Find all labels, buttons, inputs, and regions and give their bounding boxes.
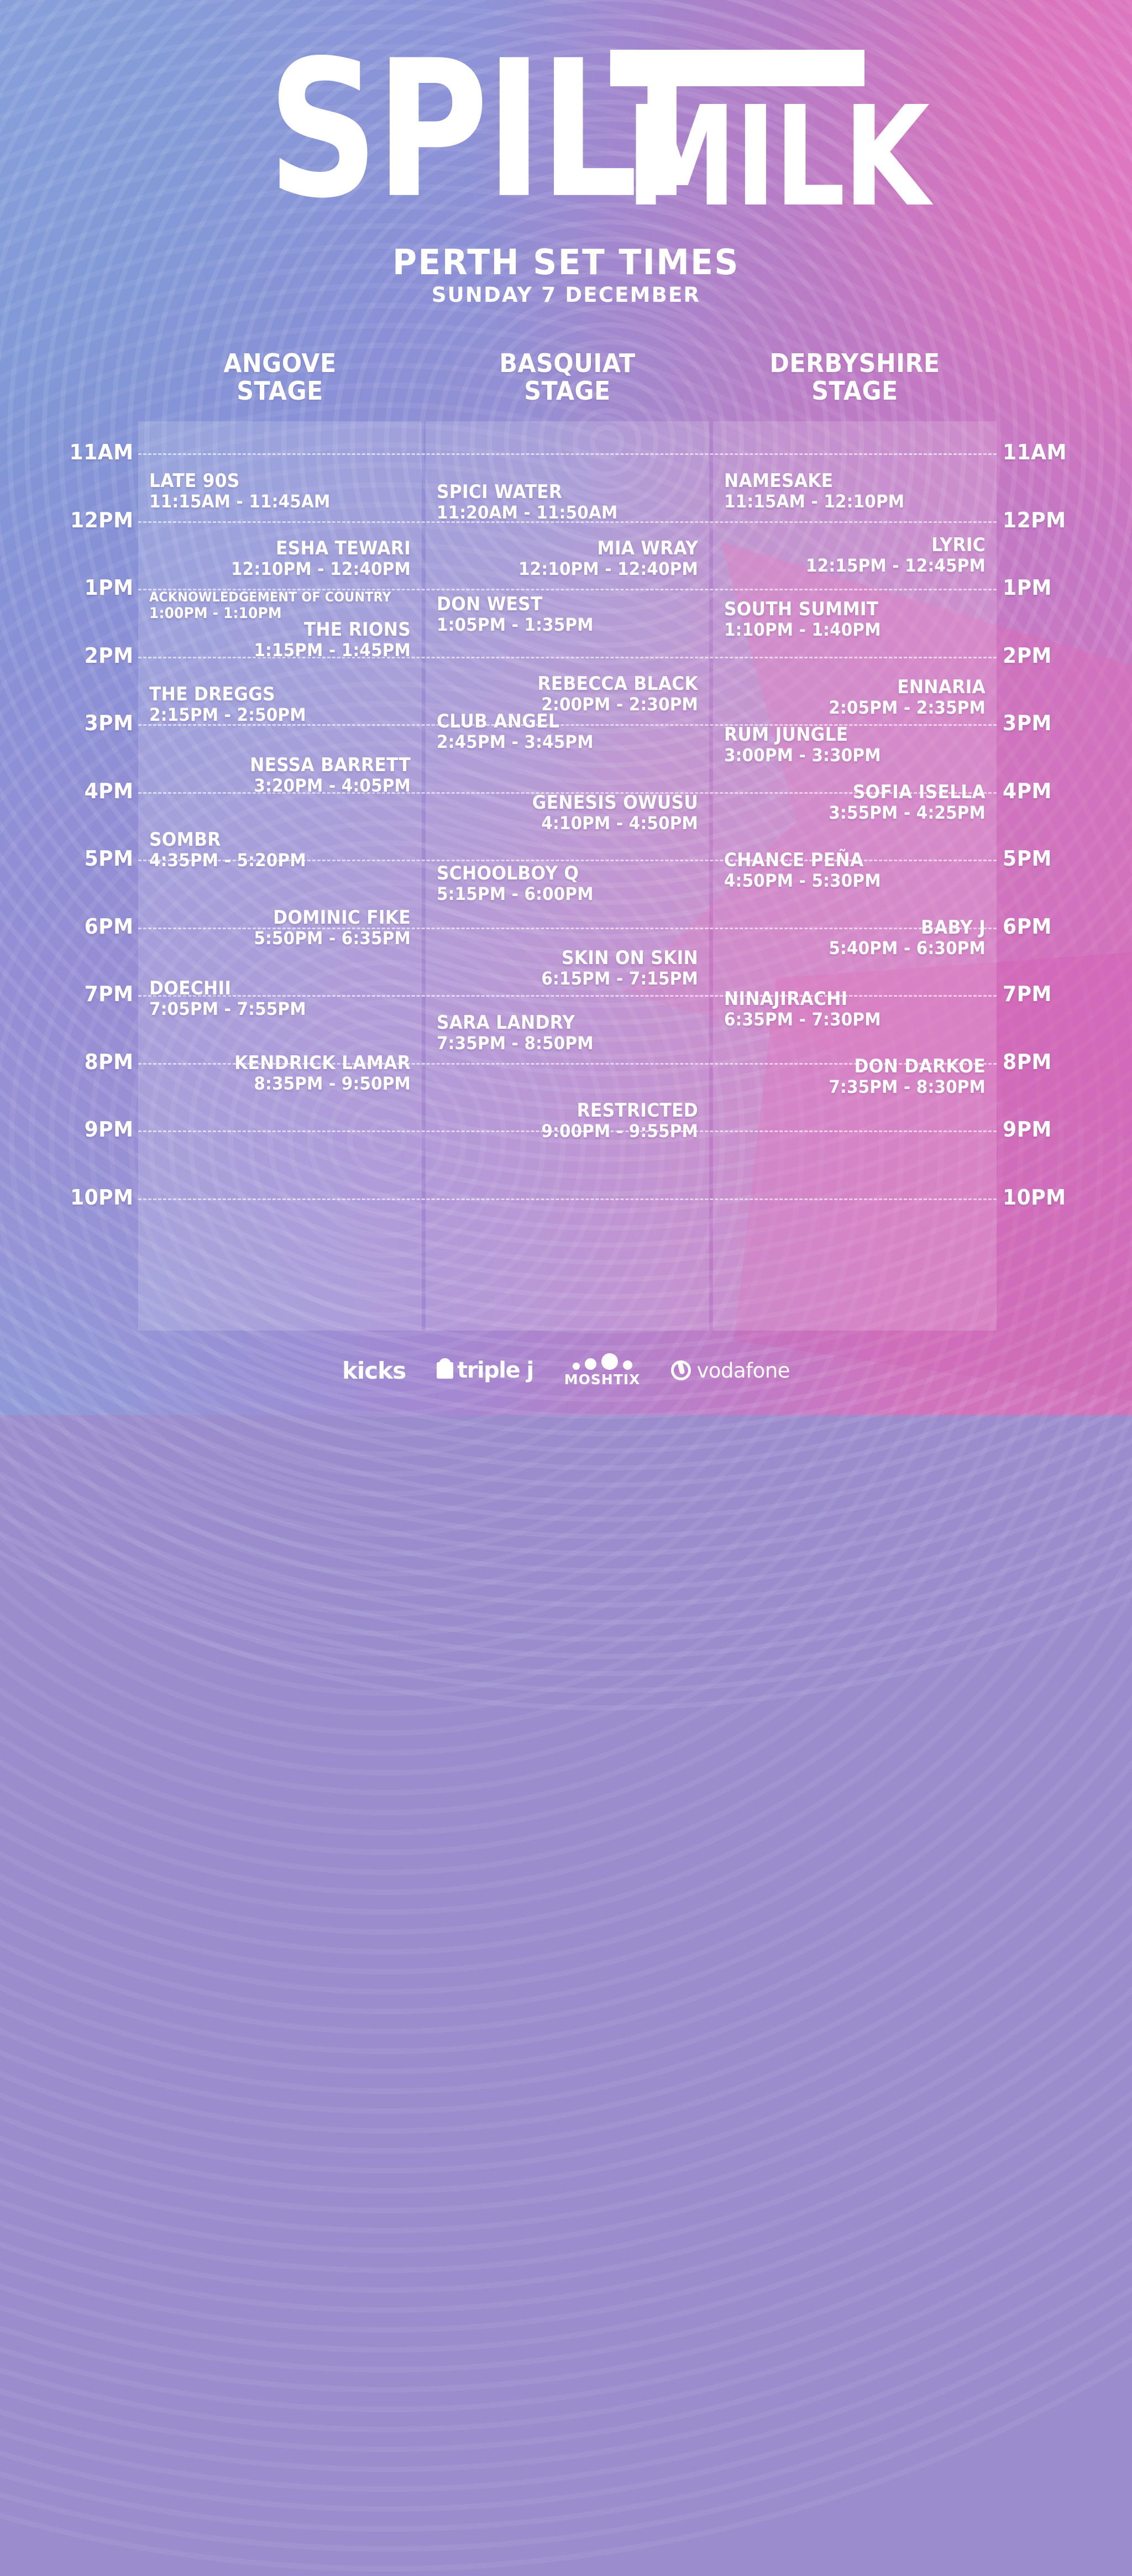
sponsor-triple-j-label: triple j [457,1358,533,1383]
set-entry[interactable]: DOMINIC FIKE5:50PM - 6:35PM [146,907,411,948]
set-artist: SARA LANDRY [437,1012,680,1033]
set-artist: SOMBR [149,829,393,850]
set-time: 9:00PM - 9:55PM [454,1121,698,1141]
set-entry[interactable]: NINAJIRACHI6:35PM - 7:30PM [724,988,989,1029]
vodafone-speechmark-icon [671,1360,691,1380]
set-time: 1:05PM - 1:35PM [437,615,680,635]
set-entry[interactable]: ESHA TEWARI12:10PM - 12:40PM [146,538,411,579]
set-entry[interactable]: GENESIS OWUSU4:10PM - 4:50PM [433,792,698,833]
schedule-grid: 11AM11AM12PM12PM1PM1PM2PM2PM3PM3PM4PM4PM… [0,0,1132,1415]
set-time: 12:10PM - 12:40PM [167,559,411,579]
triple-j-drum-icon [437,1362,453,1379]
time-label-right-9pm: 9PM [1003,1117,1129,1142]
set-artist: LATE 90S [149,470,393,491]
set-time: 4:50PM - 5:30PM [724,871,968,891]
set-entry[interactable]: DOECHII7:05PM - 7:55PM [149,978,414,1019]
set-artist: DON DARKOE [742,1056,986,1077]
set-entry[interactable]: ACKNOWLEDGEMENT OF COUNTRY1:00PM - 1:10P… [149,590,414,622]
time-label-right-4pm: 4PM [1003,779,1129,803]
time-label-right-8pm: 8PM [1003,1050,1129,1074]
set-entry[interactable]: THE RIONS1:15PM - 1:45PM [146,619,411,660]
set-artist: KENDRICK LAMAR [167,1053,411,1074]
time-label-left-1pm: 1PM [0,575,134,600]
set-artist: DOMINIC FIKE [167,907,411,928]
set-artist: NINAJIRACHI [724,988,968,1009]
set-artist: LYRIC [742,535,986,556]
set-entry[interactable]: SOMBR4:35PM - 5:20PM [149,829,414,870]
set-time: 7:05PM - 7:55PM [149,999,393,1019]
set-artist: RUM JUNGLE [724,724,968,745]
time-label-right-10pm: 10PM [1003,1185,1129,1210]
time-label-right-6pm: 6PM [1003,914,1129,939]
set-time: 2:45PM - 3:45PM [437,732,680,752]
set-entry[interactable]: SCHOOLBOY Q5:15PM - 6:00PM [437,863,701,904]
set-entry[interactable]: THE DREGGS2:15PM - 2:50PM [149,684,414,725]
set-artist: NAMESAKE [724,470,968,491]
set-artist: SOFIA ISELLA [742,782,986,803]
set-entry[interactable]: CLUB ANGEL2:45PM - 3:45PM [437,711,701,752]
set-time: 4:35PM - 5:20PM [149,850,393,870]
time-label-left-3pm: 3PM [0,711,134,735]
set-time: 3:20PM - 4:05PM [167,776,411,795]
set-entry[interactable]: ENNARIA2:05PM - 2:35PM [721,677,986,718]
set-time: 2:05PM - 2:35PM [742,698,986,718]
set-artist: ESHA TEWARI [167,538,411,559]
time-label-left-5pm: 5PM [0,846,134,871]
set-time: 5:15PM - 6:00PM [437,884,680,904]
set-artist: ENNARIA [742,677,986,698]
set-artist: REBECCA BLACK [454,673,698,694]
time-label-right-3pm: 3PM [1003,711,1129,735]
set-entry[interactable]: RUM JUNGLE3:00PM - 3:30PM [724,724,989,765]
set-artist: NESSA BARRETT [167,755,411,776]
set-entry[interactable]: SKIN ON SKIN6:15PM - 7:15PM [433,947,698,988]
set-artist: SOUTH SUMMIT [724,599,968,620]
time-label-left-10pm: 10PM [0,1185,134,1210]
set-entry[interactable]: LYRIC12:15PM - 12:45PM [721,535,986,575]
set-artist: SPICI WATER [437,481,680,502]
set-artist: DOECHII [149,978,393,999]
gridline-10pm [138,1198,997,1200]
set-time: 6:15PM - 7:15PM [454,968,698,988]
set-time: 12:10PM - 12:40PM [454,559,698,579]
set-time: 3:55PM - 4:25PM [742,803,986,823]
set-artist: RESTRICTED [454,1100,698,1121]
time-label-left-12pm: 12PM [0,508,134,532]
time-label-left-2pm: 2PM [0,643,134,668]
time-label-left-4pm: 4PM [0,779,134,803]
set-time: 7:35PM - 8:30PM [742,1077,986,1097]
set-entry[interactable]: LATE 90S11:15AM - 11:45AM [149,470,414,511]
set-artist: CLUB ANGEL [437,711,680,732]
time-label-left-9pm: 9PM [0,1117,134,1142]
set-time: 5:50PM - 6:35PM [167,928,411,948]
set-artist: ACKNOWLEDGEMENT OF COUNTRY [149,590,393,605]
set-artist: THE DREGGS [149,684,393,705]
set-entry[interactable]: REBECCA BLACK2:00PM - 2:30PM [433,673,698,714]
time-label-left-6pm: 6PM [0,914,134,939]
sponsor-kicks: kicks [342,1357,406,1384]
set-entry[interactable]: SOFIA ISELLA3:55PM - 4:25PM [721,782,986,823]
set-time: 1:10PM - 1:40PM [724,620,968,640]
poster: SPILT MILK PERTH SET TIMES SUNDAY 7 DECE… [0,0,1132,1415]
time-label-right-11am: 11AM [1003,440,1129,464]
set-artist: BABY J [742,917,986,938]
set-time: 4:10PM - 4:50PM [454,813,698,833]
set-time: 7:35PM - 8:50PM [437,1033,680,1053]
set-entry[interactable]: CHANCE PEÑA4:50PM - 5:30PM [724,850,989,891]
set-artist: GENESIS OWUSU [454,792,698,813]
set-entry[interactable]: KENDRICK LAMAR8:35PM - 9:50PM [146,1053,411,1093]
set-time: 12:15PM - 12:45PM [742,556,986,575]
set-time: 8:35PM - 9:50PM [167,1074,411,1093]
sponsor-moshtix: MOSHTIX [564,1353,641,1388]
time-label-left-8pm: 8PM [0,1050,134,1074]
time-label-left-11am: 11AM [0,440,134,464]
set-artist: SCHOOLBOY Q [437,863,680,884]
set-time: 11:15AM - 11:45AM [149,491,393,511]
set-entry[interactable]: NAMESAKE11:15AM - 12:10PM [724,470,989,511]
set-entry[interactable]: SARA LANDRY7:35PM - 8:50PM [437,1012,701,1053]
set-artist: CHANCE PEÑA [724,850,968,871]
time-label-left-7pm: 7PM [0,982,134,1006]
gridline-11am [138,453,997,455]
sponsor-triple-j: triple j [437,1358,533,1383]
set-entry[interactable]: SPICI WATER11:20AM - 11:50AM [437,481,701,522]
set-entry[interactable]: DON WEST1:05PM - 1:35PM [437,594,701,635]
set-entry[interactable]: NESSA BARRETT3:20PM - 4:05PM [146,755,411,795]
set-entry[interactable]: RESTRICTED9:00PM - 9:55PM [433,1100,698,1141]
set-time: 11:15AM - 12:10PM [724,491,968,511]
set-time: 5:40PM - 6:30PM [742,938,986,958]
set-entry[interactable]: DON DARKOE7:35PM - 8:30PM [721,1056,986,1097]
set-artist: THE RIONS [167,619,411,640]
time-label-right-7pm: 7PM [1003,982,1129,1006]
sponsor-vodafone: vodafone [671,1359,790,1383]
set-entry[interactable]: MIA WRAY12:10PM - 12:40PM [433,538,698,579]
time-label-right-2pm: 2PM [1003,643,1129,668]
set-time: 6:35PM - 7:30PM [724,1009,968,1029]
sponsor-vodafone-label: vodafone [696,1359,790,1383]
set-artist: DON WEST [437,594,680,615]
moshtix-dots-icon [573,1353,632,1370]
time-label-right-1pm: 1PM [1003,575,1129,600]
set-entry[interactable]: SOUTH SUMMIT1:10PM - 1:40PM [724,599,989,640]
set-time: 3:00PM - 3:30PM [724,745,968,765]
sponsor-moshtix-label: MOSHTIX [564,1371,641,1388]
set-time: 2:15PM - 2:50PM [149,705,393,725]
time-label-right-12pm: 12PM [1003,508,1129,532]
set-artist: MIA WRAY [454,538,698,559]
set-time: 1:15PM - 1:45PM [167,640,411,660]
time-label-right-5pm: 5PM [1003,846,1129,871]
sponsor-bar: kicks triple j MOSHTIX vodafone [0,1353,1132,1388]
set-artist: SKIN ON SKIN [454,947,698,968]
set-entry[interactable]: BABY J5:40PM - 6:30PM [721,917,986,958]
set-time: 11:20AM - 11:50AM [437,502,680,522]
